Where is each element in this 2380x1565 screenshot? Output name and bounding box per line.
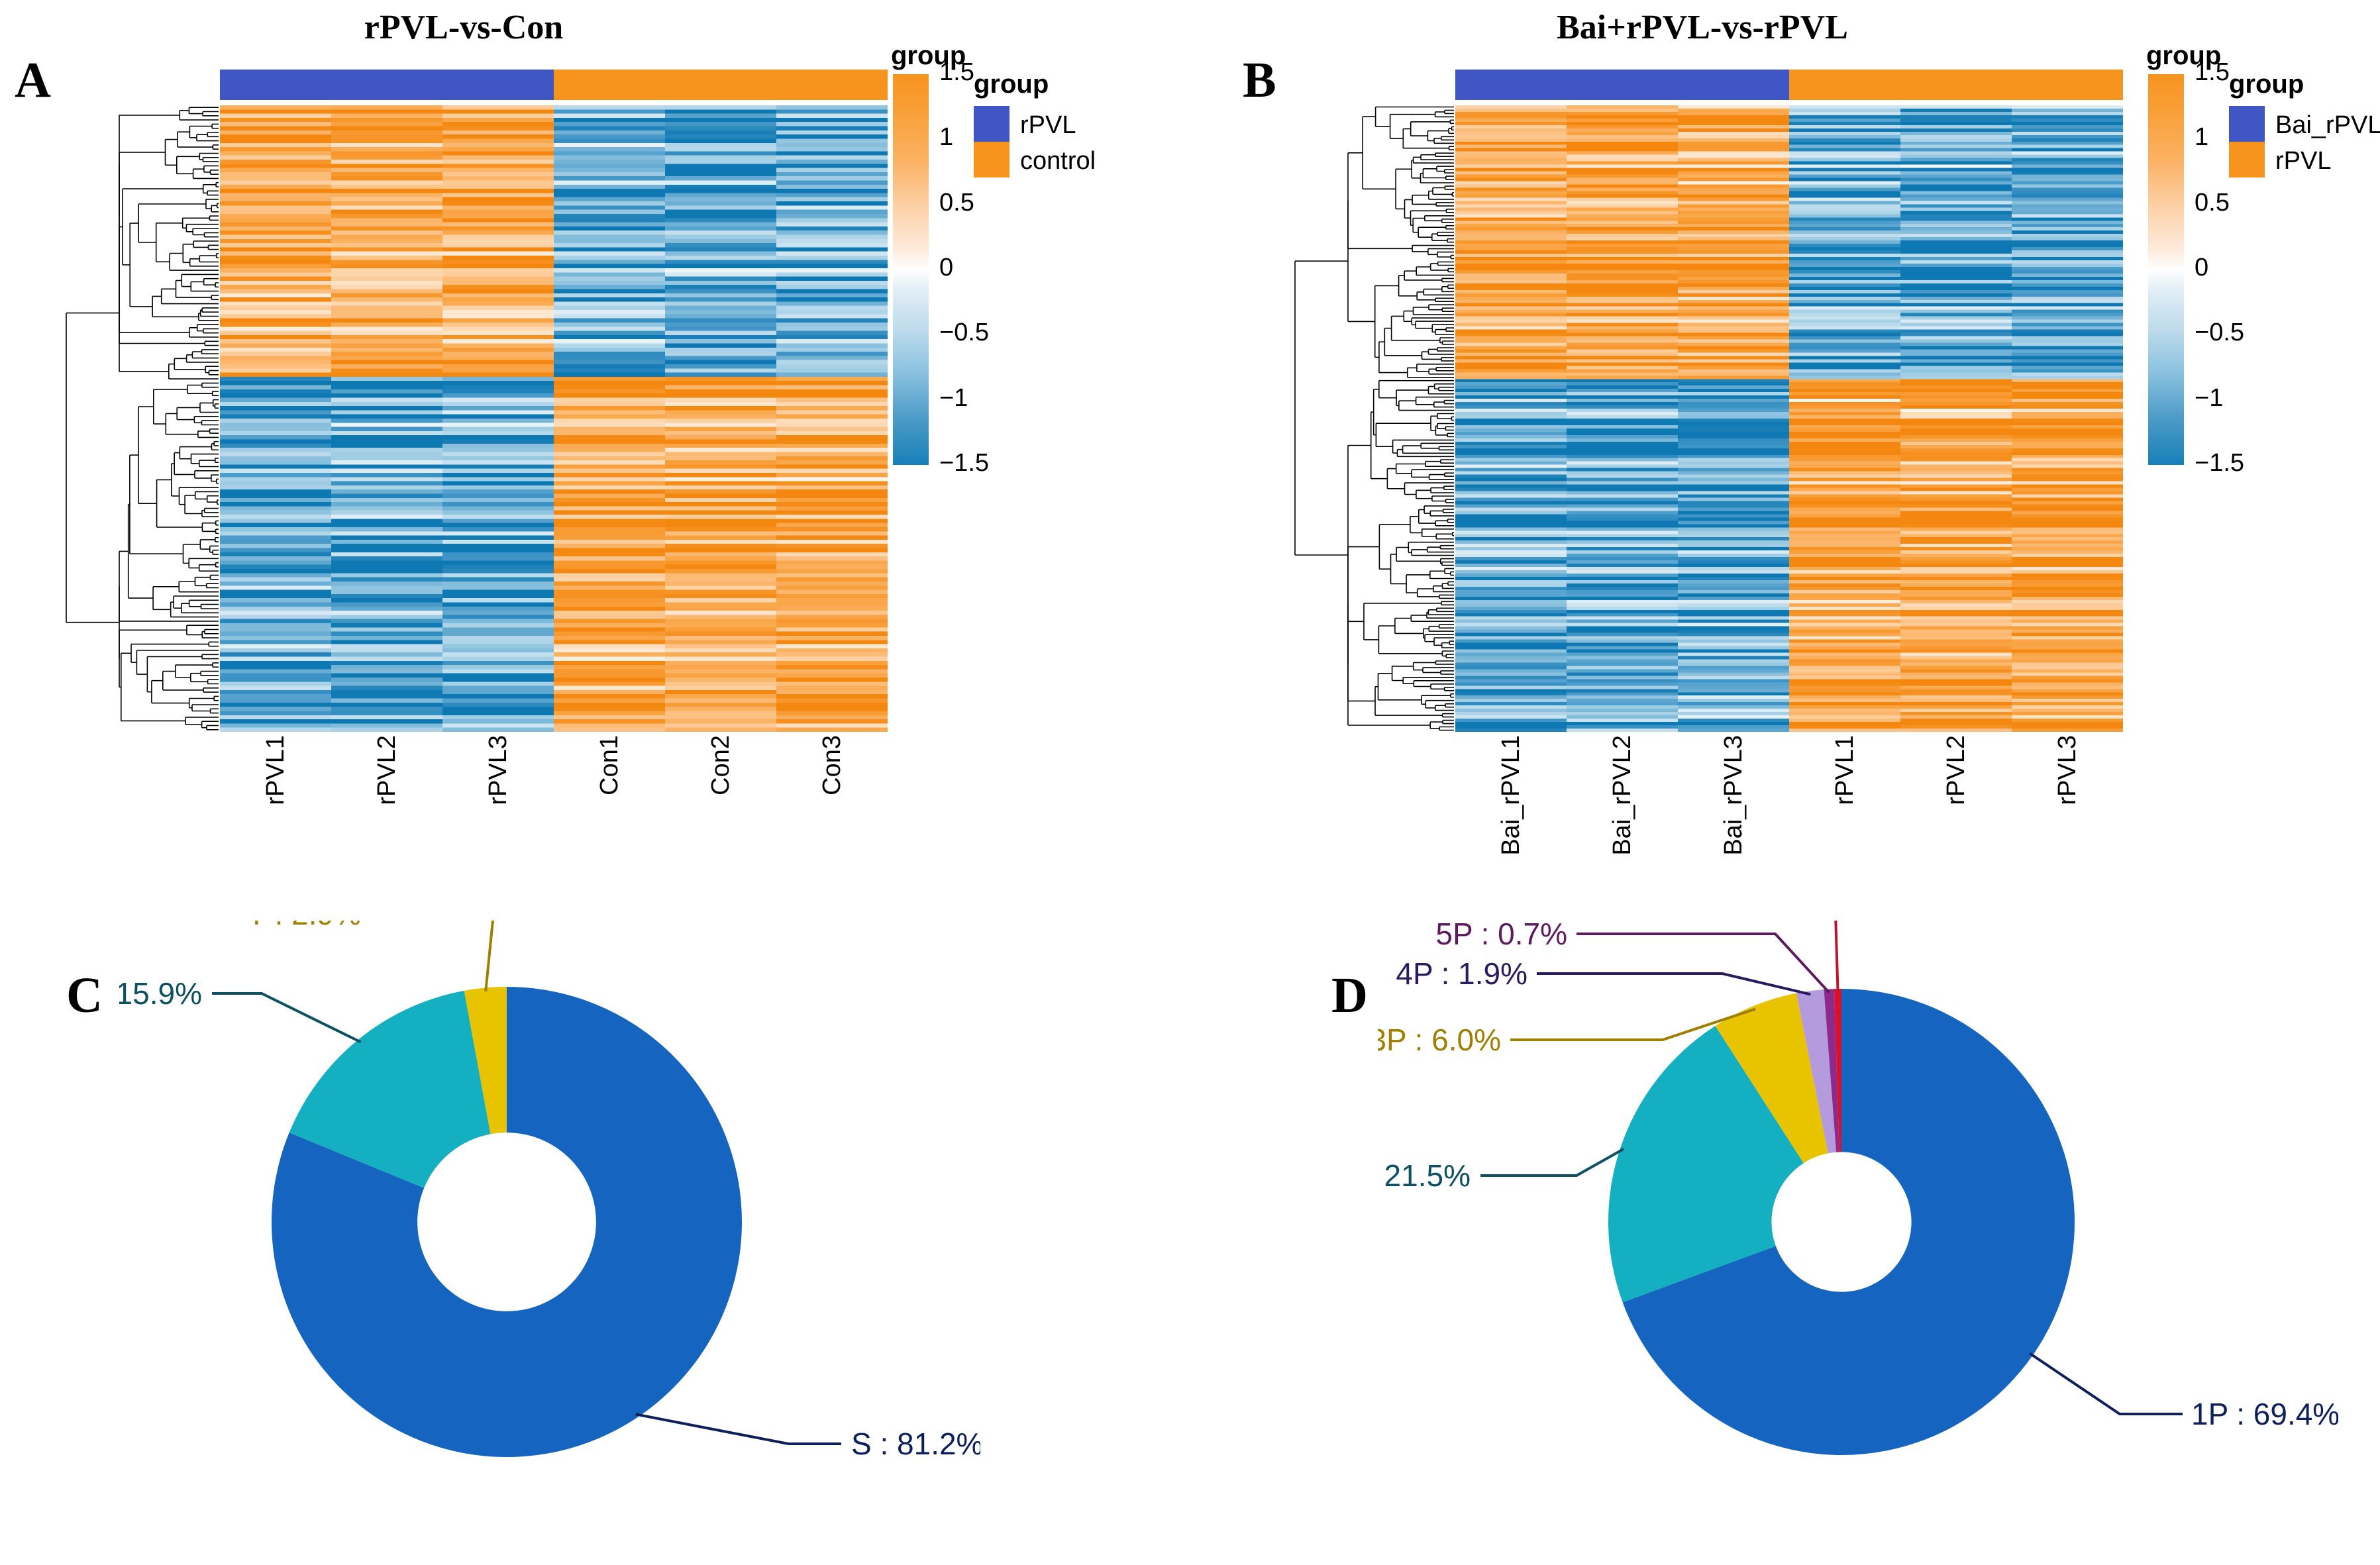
group-bar-segment-Bai_rPVL — [1455, 70, 1789, 100]
heatmap-column-Bai_rPVL1 — [1455, 105, 1567, 732]
heatmap-b — [1275, 70, 2123, 732]
pie-label-T: T : 15.9% — [119, 976, 202, 1011]
colorbar-tick-4: −0.5 — [939, 319, 989, 347]
panel-letter-d: D — [1331, 967, 1368, 1025]
legend-label-control: control — [1020, 147, 1096, 176]
colorbar-tick-5: −1 — [939, 384, 968, 413]
legend-swatch-rPVL — [974, 106, 1009, 142]
colorbar-tick-6: −1.5 — [939, 449, 989, 478]
pie-label-4P: 4P : 1.9% — [1396, 956, 1527, 991]
heatmap-column-rPVL3 — [2012, 105, 2123, 732]
legend-swatch-rPVL — [2229, 142, 2265, 177]
heatmap-matrix-b — [1455, 105, 2123, 732]
heatmap-column-Bai_rPVL3 — [1678, 105, 1789, 732]
colorbar-tick-6: −1.5 — [2195, 449, 2244, 478]
sample-label-Bai_rPVL1: Bai_rPVL1 — [1455, 735, 1567, 887]
leader-line-2P — [1480, 1149, 1624, 1176]
heatmap-column-rPVL3 — [442, 105, 554, 732]
group-bar-segment-control — [554, 70, 888, 100]
panel-a-title: rPVL-vs-Con — [159, 8, 768, 47]
panel-b-title: Bai+rPVL-vs-rPVL — [1398, 8, 2007, 47]
sample-label-Bai_rPVL3: Bai_rPVL3 — [1678, 735, 1789, 887]
sample-label-rPVL2: rPVL2 — [1900, 735, 2012, 887]
panel-letter-a: A — [15, 52, 51, 109]
heatmap-column-Con2 — [665, 105, 776, 732]
pie-label-5P: 5P : 0.7% — [1435, 921, 1567, 951]
pie-label-1P: 1P : 69.4% — [2191, 1397, 2338, 1431]
group-bar-segment-rPVL — [220, 70, 554, 100]
row-dendrogram-b — [1275, 70, 1454, 732]
legend-label-rPVL: rPVL — [2275, 147, 2331, 176]
heatmap-a-sample-labels: rPVL1rPVL2rPVL3Con1Con2Con3 — [220, 735, 888, 874]
donut-chart-c: S : 81.2%T : 15.9%Y : 2.9% — [119, 921, 980, 1550]
panel-letter-b: B — [1243, 52, 1276, 109]
colorbar-tick-2: 0.5 — [939, 189, 974, 217]
leader-line-4P — [1537, 974, 1810, 994]
pie-label-2P: 2P : 21.5% — [1378, 1158, 1471, 1193]
heatmap-column-rPVL1 — [1789, 105, 1900, 732]
group-legend-b-title: group — [2229, 70, 2304, 99]
sample-label-rPVL3: rPVL3 — [442, 735, 554, 874]
pie-label-S: S : 81.2% — [851, 1427, 980, 1461]
legend-swatch-Bai_rPVL — [2229, 106, 2265, 142]
group-annotation-bar-a — [220, 70, 888, 100]
heatmap-column-Con3 — [776, 105, 888, 732]
colorbar-tick-3: 0 — [2195, 254, 2208, 282]
group-bar-segment-rPVL — [1789, 70, 2123, 100]
leader-line-S — [636, 1414, 841, 1444]
sample-label-Con3: Con3 — [776, 735, 888, 874]
heatmap-column-Con1 — [554, 105, 665, 732]
colorbar-tick-3: 0 — [939, 254, 953, 282]
heatmap-column-rPVL2 — [331, 105, 442, 732]
sample-label-rPVL1: rPVL1 — [220, 735, 331, 874]
donut-chart-d: 1P : 69.4%2P : 21.5%3P : 6.0%4P : 1.9%5P… — [1378, 921, 2338, 1550]
colorbar-tick-2: 0.5 — [2195, 189, 2230, 217]
row-dendrogram-a — [46, 70, 219, 732]
sample-label-rPVL1: rPVL1 — [1789, 735, 1900, 887]
legend-label-Bai_rPVL: Bai_rPVL — [2275, 111, 2380, 140]
colorbar-b-strip — [2148, 74, 2184, 465]
leader-line-1P — [2030, 1354, 2183, 1415]
panel-letter-c: C — [66, 967, 103, 1025]
colorbar-tick-1: 1 — [939, 123, 953, 152]
colorbar-tick-0: 1.5 — [2195, 58, 2230, 87]
leader-line-T — [212, 993, 361, 1042]
leader-line->=6P — [1656, 921, 1838, 992]
sample-label-Bai_rPVL2: Bai_rPVL2 — [1567, 735, 1678, 887]
sample-label-Con1: Con1 — [554, 735, 665, 874]
colorbar-tick-5: −1 — [2195, 384, 2223, 413]
pie-label-Y: Y : 2.9% — [246, 921, 361, 931]
leader-line-Y — [371, 921, 493, 991]
heatmap-column-rPVL2 — [1900, 105, 2012, 732]
group-legend-a-title: group — [974, 70, 1049, 99]
legend-swatch-control — [974, 142, 1009, 177]
heatmap-a — [46, 70, 888, 732]
heatmap-b-sample-labels: Bai_rPVL1Bai_rPVL2Bai_rPVL3rPVL1rPVL2rPV… — [1455, 735, 2123, 887]
sample-label-rPVL3: rPVL3 — [2012, 735, 2123, 887]
colorbar-tick-4: −0.5 — [2195, 319, 2244, 347]
colorbar-a-strip — [893, 74, 929, 465]
colorbar-tick-0: 1.5 — [939, 58, 974, 87]
pie-label-3P: 3P : 6.0% — [1378, 1023, 1501, 1057]
heatmap-matrix-a — [220, 105, 888, 732]
group-annotation-bar-b — [1455, 70, 2123, 100]
heatmap-column-Bai_rPVL2 — [1567, 105, 1678, 732]
heatmap-column-rPVL1 — [220, 105, 331, 732]
sample-label-rPVL2: rPVL2 — [331, 735, 442, 874]
colorbar-tick-1: 1 — [2195, 123, 2208, 152]
legend-label-rPVL: rPVL — [1020, 111, 1076, 140]
sample-label-Con2: Con2 — [665, 735, 776, 874]
leader-line-5P — [1577, 934, 1830, 993]
